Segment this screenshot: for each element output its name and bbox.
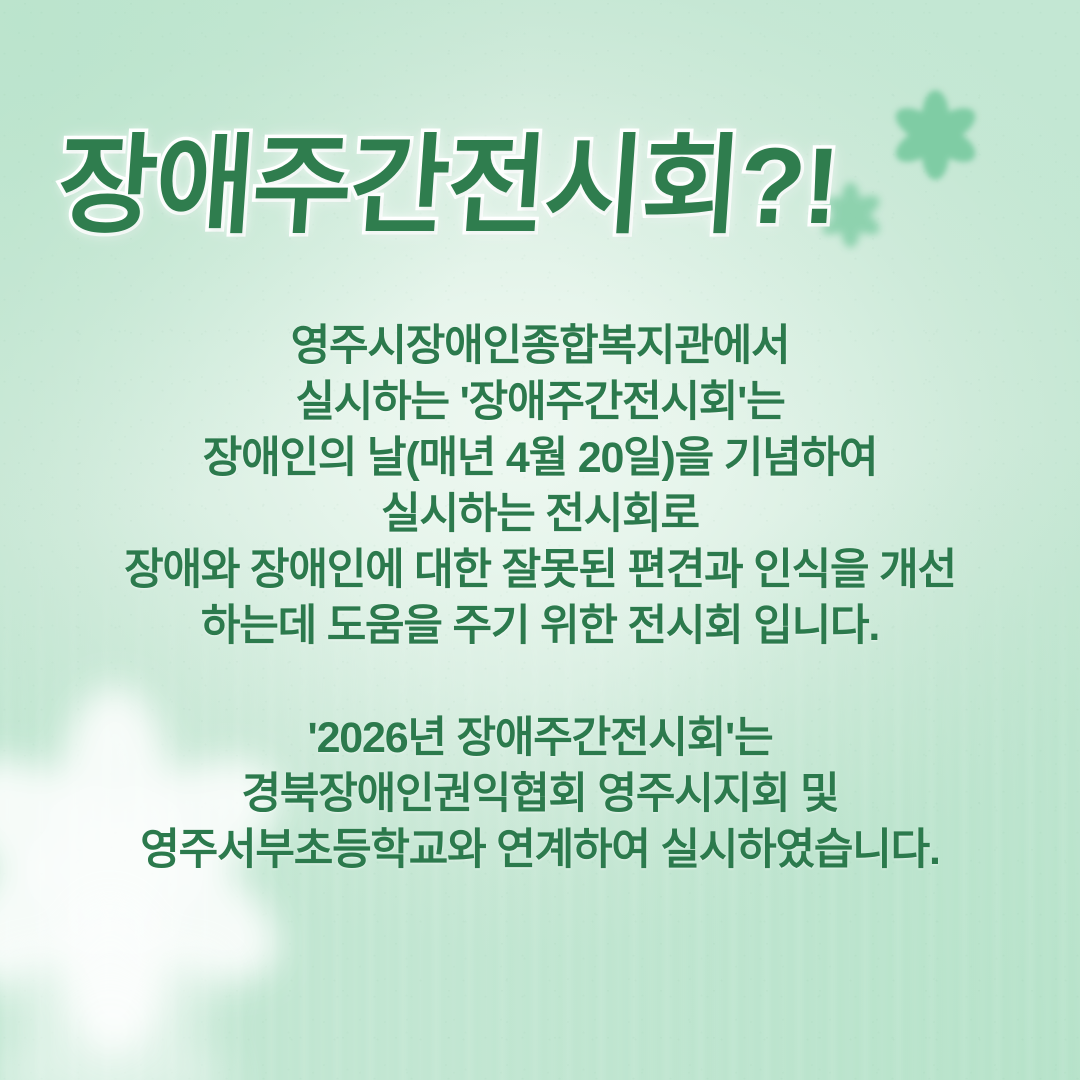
poster-canvas: 장애주간전시회?! 영주시장애인종합복지관에서 실시하는 '장애주간전시회'는 … [0,0,1080,1080]
flower-icon-white-small [0,880,260,1080]
paragraph-partners: '2026년 장애주간전시회'는 경북장애인권익협회 영주시지회 및 영주서부초… [0,710,1080,878]
paragraph-intro: 영주시장애인종합복지관에서 실시하는 '장애주간전시회'는 장애인의 날(매년 … [0,318,1080,654]
poster-body: 영주시장애인종합복지관에서 실시하는 '장애주간전시회'는 장애인의 날(매년 … [0,318,1080,878]
poster-headline: 장애주간전시회?! [54,128,842,245]
